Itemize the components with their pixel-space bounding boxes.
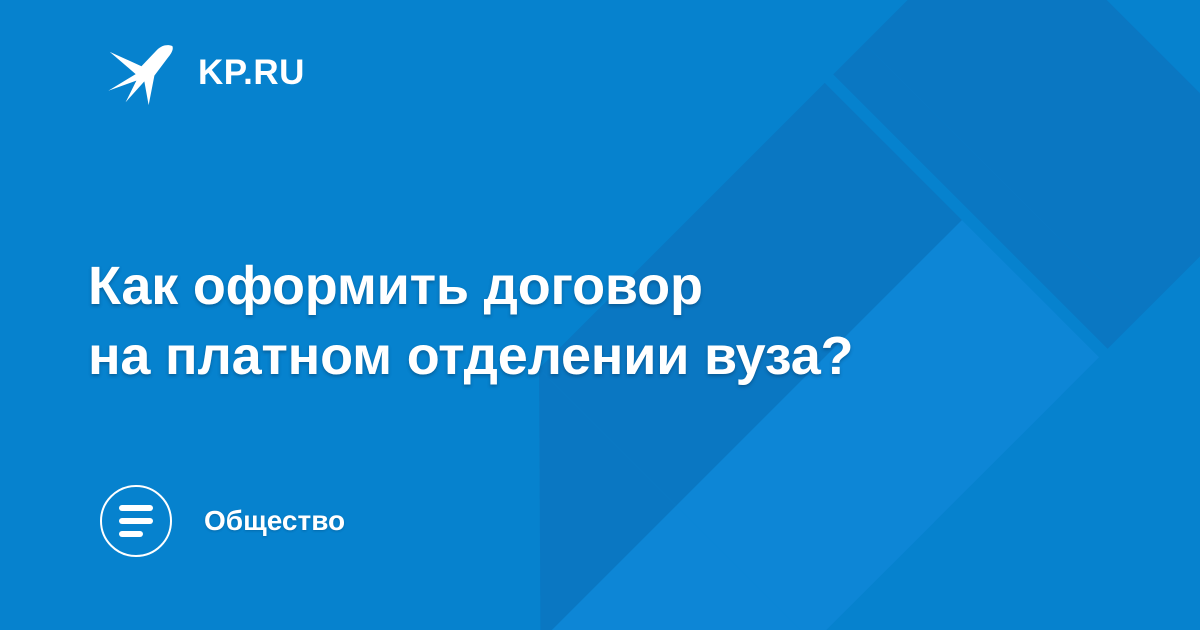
- pencil-tip-right: [540, 506, 813, 630]
- hamburger-bar-2: [119, 518, 153, 524]
- page-title: Как оформить договор на платном отделени…: [88, 252, 988, 391]
- category-label: Общество: [204, 507, 345, 535]
- headline-line-1: Как оформить договор: [88, 252, 988, 322]
- headline-line-2: на платном отделении вуза?: [88, 322, 988, 392]
- hamburger-bar-1: [119, 505, 153, 511]
- category-tag[interactable]: Общество: [100, 485, 345, 557]
- brand-logo[interactable]: KP.RU: [104, 36, 305, 108]
- brand-name: KP.RU: [198, 55, 305, 90]
- hamburger-bar-3: [119, 531, 143, 537]
- hamburger-menu-icon: [100, 485, 172, 557]
- social-share-card: KP.RU Как оформить договор на платном от…: [0, 0, 1200, 630]
- swallow-bird-icon: [104, 36, 176, 108]
- pencil-tip-left: [403, 369, 676, 630]
